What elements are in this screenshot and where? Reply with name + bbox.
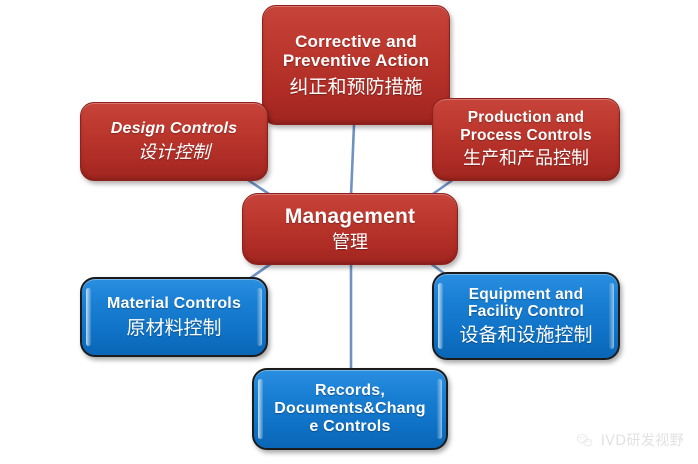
node-design-controls[interactable]: Design Controls 设计控制	[80, 102, 268, 181]
node-corrective-and-preventive-action[interactable]: Corrective and Preventive Action 纠正和预防措施	[262, 5, 450, 125]
node-label-zh: 管理	[332, 233, 368, 253]
diagram-canvas: Corrective and Preventive Action 纠正和预防措施…	[0, 0, 698, 464]
watermark: IVD研发视野	[575, 430, 684, 450]
node-label-en: Equipment and Facility Control	[468, 286, 584, 321]
node-label-en: Production and Process Controls	[460, 109, 592, 144]
node-label-en: Corrective and Preventive Action	[283, 32, 429, 70]
node-equipment-and-facility-control[interactable]: Equipment and Facility Control 设备和设施控制	[432, 272, 620, 360]
node-label-zh: 生产和产品控制	[463, 149, 589, 169]
node-label-en: Design Controls	[111, 120, 238, 138]
node-material-controls[interactable]: Material Controls 原材料控制	[80, 277, 268, 357]
node-label-en: Management	[285, 205, 415, 229]
node-management-center[interactable]: Management 管理	[242, 193, 458, 265]
wechat-logo-icon	[575, 431, 594, 450]
node-production-and-process-controls[interactable]: Production and Process Controls 生产和产品控制	[432, 98, 620, 181]
node-label-zh: 原材料控制	[126, 318, 221, 339]
node-label-zh: 纠正和预防措施	[289, 77, 422, 98]
node-label-en: Records, Documents&Chang e Controls	[274, 382, 425, 436]
node-label-en: Material Controls	[107, 295, 241, 313]
node-label-zh: 设备和设施控制	[459, 325, 592, 346]
node-label-zh: 设计控制	[138, 143, 210, 163]
watermark-text: IVD研发视野	[601, 430, 684, 450]
connector-management-to-capa	[351, 125, 354, 196]
node-records-documents-change-controls[interactable]: Records, Documents&Chang e Controls	[252, 368, 448, 450]
